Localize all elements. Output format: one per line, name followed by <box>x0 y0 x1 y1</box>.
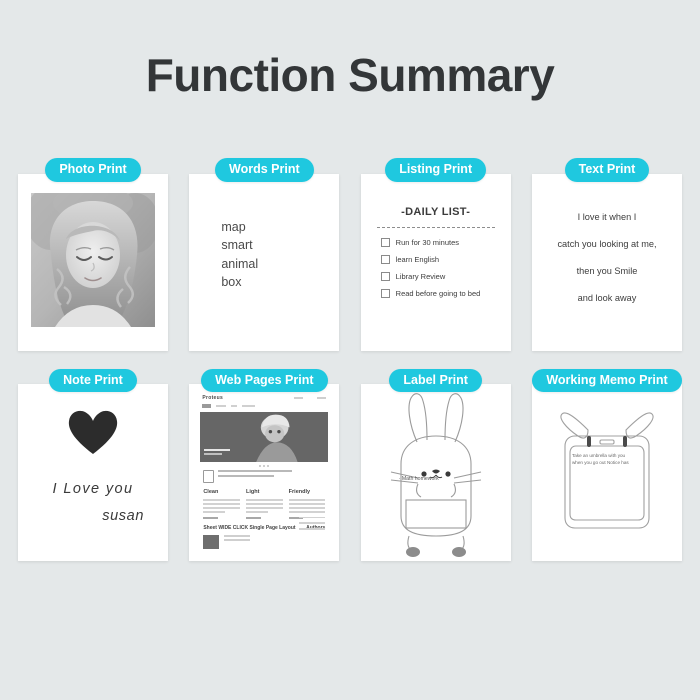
badge-note-print: Note Print <box>49 369 137 393</box>
webpage-topbar: Proteus <box>196 391 332 404</box>
cards-row-2: Note Print I Love you susan Web Pages Pr… <box>0 369 700 562</box>
word-item: animal <box>221 255 258 274</box>
word-item: smart <box>221 236 258 255</box>
card-body-working-memo-print: Take an umbrella with you when you go ou… <box>532 384 682 561</box>
bunny-memo-icon <box>532 384 682 561</box>
webpage-column: Light <box>246 489 283 519</box>
text-line: catch you looking at me, <box>540 239 674 249</box>
todo-label: Run for 30 minutes <box>396 238 459 247</box>
text-lines: I love it when I catch you looking at me… <box>540 212 674 320</box>
rabbit-icon <box>361 384 511 561</box>
column-heading: Light <box>246 489 283 495</box>
todo-label: learn English <box>396 255 439 264</box>
badge-web-pages-print: Web Pages Print <box>201 369 327 393</box>
webpage-carousel-dots[interactable] <box>196 462 332 469</box>
page-title: Function Summary <box>0 0 700 98</box>
webpage-topbar-links <box>294 397 326 399</box>
note-line-2: susan <box>102 508 144 524</box>
todo-item[interactable]: Library Review <box>381 272 497 281</box>
intro-text-lines <box>218 470 292 480</box>
card-listing-print[interactable]: Listing Print -DAILY LIST- Run for 30 mi… <box>361 158 511 351</box>
checkbox-icon[interactable] <box>381 272 390 281</box>
nav-link <box>231 405 237 407</box>
card-note-print[interactable]: Note Print I Love you susan <box>18 369 168 562</box>
note-line-1: I Love you <box>18 481 168 497</box>
card-body-label-print: · Math homework <box>361 384 511 561</box>
cards-grid: Photo Print <box>0 158 700 579</box>
column-heading: Clean <box>203 489 240 495</box>
text-line: and look away <box>540 293 674 303</box>
checkbox-icon[interactable] <box>381 238 390 247</box>
todo-item[interactable]: Run for 30 minutes <box>381 238 497 247</box>
footer-text-lines <box>224 535 250 549</box>
word-item: box <box>221 273 258 292</box>
badge-label-print: Label Print <box>389 369 482 393</box>
card-body-photo-print <box>18 174 168 351</box>
checkbox-icon[interactable] <box>381 289 390 298</box>
card-body-web-pages-print: Proteus <box>189 384 339 561</box>
words-list: map smart animal box <box>221 218 258 292</box>
label-note-text: · Math homework <box>399 476 439 482</box>
card-body-words-print: map smart animal box <box>189 174 339 351</box>
todo-label: Library Review <box>396 272 446 281</box>
document-icon <box>203 470 214 483</box>
badge-words-print: Words Print <box>215 158 314 182</box>
badge-photo-print: Photo Print <box>45 158 140 182</box>
footer-heading: Sheet WIDE CLICK Single Page Layout <box>203 525 295 531</box>
text-line: I love it when I <box>540 212 674 222</box>
nav-active-tag <box>202 404 211 408</box>
webpage-hero-image <box>200 412 328 462</box>
checkbox-icon[interactable] <box>381 255 390 264</box>
nav-link <box>216 405 226 407</box>
nav-link <box>242 405 255 407</box>
webpage-column: Clean <box>203 489 240 519</box>
heart-icon <box>66 408 120 461</box>
card-words-print[interactable]: Words Print map smart animal box <box>189 158 339 351</box>
card-web-pages-print[interactable]: Web Pages Print Proteus <box>189 369 339 562</box>
footer-thumbnail <box>203 535 219 549</box>
badge-listing-print: Listing Print <box>385 158 486 182</box>
column-heading: Friendly <box>289 489 326 495</box>
word-item: map <box>221 218 258 237</box>
cards-row-1: Photo Print <box>0 158 700 351</box>
card-body-note-print: I Love you susan <box>18 384 168 561</box>
badge-text-print: Text Print <box>565 158 650 182</box>
memo-text: Take an umbrella with you when you go ou… <box>572 452 632 466</box>
divider <box>377 227 495 228</box>
todo-item[interactable]: learn English <box>381 255 497 264</box>
card-body-listing-print: -DAILY LIST- Run for 30 minutes learn En… <box>361 174 511 351</box>
card-working-memo-print[interactable]: Working Memo Print <box>532 369 682 562</box>
card-photo-print[interactable]: Photo Print <box>18 158 168 351</box>
todo-item[interactable]: Read before going to bed <box>381 289 497 298</box>
webpage-mockup: Proteus <box>196 391 332 554</box>
card-text-print[interactable]: Text Print I love it when I catch you lo… <box>532 158 682 351</box>
todo-label: Read before going to bed <box>396 289 481 298</box>
daily-list: -DAILY LIST- Run for 30 minutes learn En… <box>375 206 497 306</box>
webpage-nav <box>196 404 332 412</box>
webpage-logo: Proteus <box>202 395 223 401</box>
photo-image <box>31 193 155 327</box>
card-label-print[interactable]: Label Print <box>361 369 511 562</box>
footer-author-links <box>299 511 325 534</box>
webpage-intro <box>196 469 332 483</box>
badge-working-memo-print: Working Memo Print <box>532 369 681 393</box>
daily-list-title: -DAILY LIST- <box>375 206 497 218</box>
text-line: then you Smile <box>540 266 674 276</box>
card-body-text-print: I love it when I catch you looking at me… <box>532 174 682 351</box>
hero-caption <box>204 449 230 457</box>
